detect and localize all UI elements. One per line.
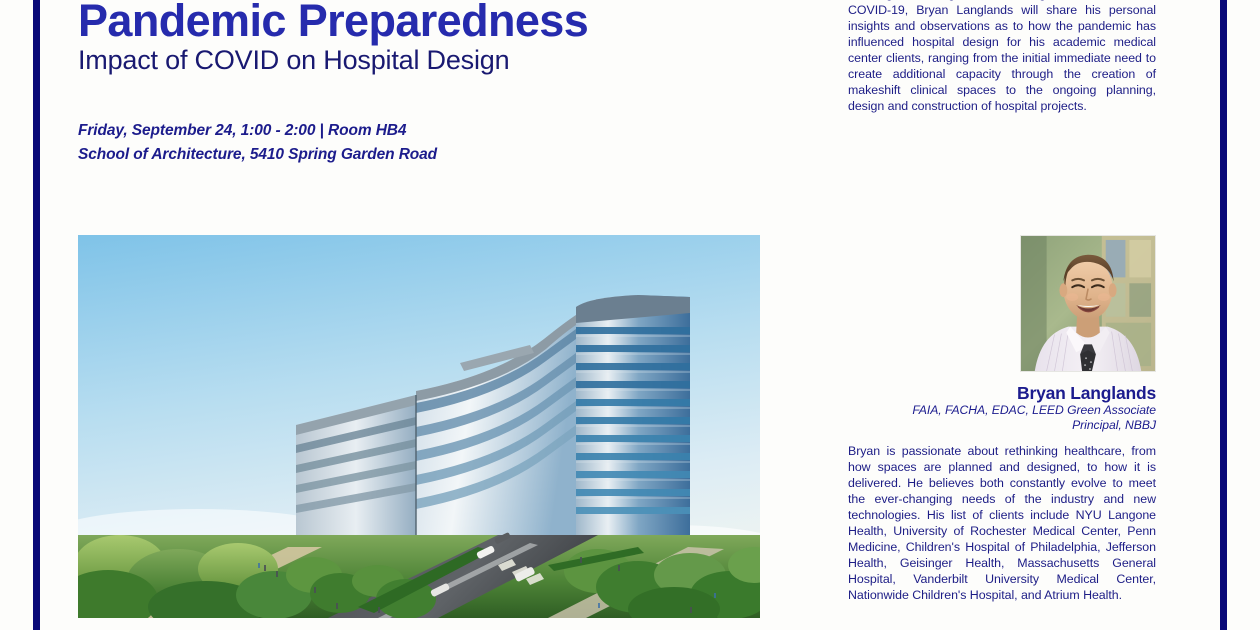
right-vertical-rule	[1220, 0, 1227, 630]
speaker-identity: Bryan Langlands FAIA, FACHA, EDAC, LEED …	[848, 383, 1156, 432]
speaker-bio: Bryan is passionate about rethinking hea…	[848, 443, 1156, 603]
page-subtitle: Impact of COVID on Hospital Design	[78, 46, 778, 76]
event-location: School of Architecture, 5410 Spring Gard…	[78, 143, 778, 167]
right-column: Working and living in NYC through the fi…	[848, 0, 1156, 128]
event-datetime: Friday, September 24, 1:00 - 2:00 | Room…	[78, 119, 778, 143]
speaker-role: Principal, NBBJ	[848, 418, 1156, 433]
speaker-name: Bryan Langlands	[848, 383, 1156, 403]
speaker-headshot-artwork	[1021, 236, 1155, 371]
speaker-credentials: FAIA, FACHA, EDAC, LEED Green Associate	[848, 403, 1156, 418]
talk-description: Working and living in NYC through the fi…	[848, 0, 1156, 114]
building-rendering-image	[78, 235, 760, 618]
left-vertical-rule	[33, 0, 40, 630]
left-column: Pandemic Preparedness Impact of COVID on…	[78, 0, 778, 166]
speaker-headshot	[1020, 235, 1156, 372]
poster-canvas: Pandemic Preparedness Impact of COVID on…	[0, 0, 1260, 630]
page-title: Pandemic Preparedness	[78, 0, 778, 41]
building-rendering-artwork	[78, 235, 760, 618]
event-details: Friday, September 24, 1:00 - 2:00 | Room…	[78, 119, 778, 166]
